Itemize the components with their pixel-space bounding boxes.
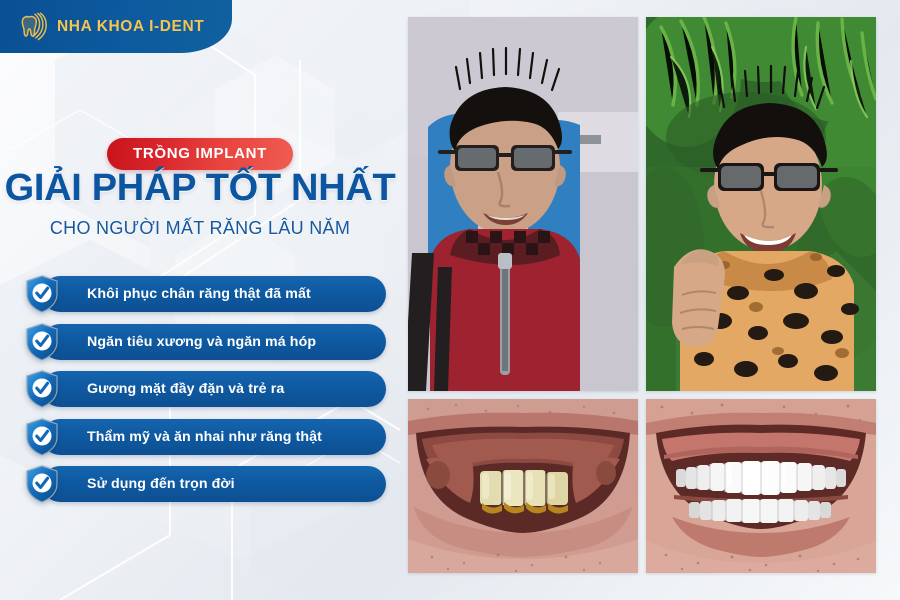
- teeth-closeup-after-photo: [646, 399, 876, 573]
- patient-portrait-before-photo: [408, 17, 638, 391]
- benefit-pill: Ngăn tiêu xương và ngăn má hóp: [42, 324, 386, 360]
- shield-check-icon: [20, 415, 64, 459]
- content-column: TRỒNG IMPLANT GIẢI PHÁP TỐT NHẤT CHO NGƯ…: [0, 0, 400, 600]
- tooth-arc-logo-icon: [14, 10, 48, 44]
- brand-name: NHA KHOA I-DENT: [57, 18, 204, 36]
- list-item: Sử dụng đến trọn đời: [20, 462, 390, 506]
- shield-check-icon: [20, 462, 64, 506]
- benefit-pill: Khôi phục chân răng thật đã mất: [42, 276, 386, 312]
- benefits-list: Khôi phục chân răng thật đã mất Ngăn tiê…: [20, 272, 390, 510]
- benefit-label: Gương mặt đầy đặn và trẻ ra: [87, 381, 284, 397]
- banner-canvas: NHA KHOA I-DENT TRỒNG IMPLANT GIẢI PHÁP …: [0, 0, 900, 600]
- before-after-gallery: [408, 17, 884, 583]
- benefit-pill: Gương mặt đầy đặn và trẻ ra: [42, 371, 386, 407]
- benefit-label: Ngăn tiêu xương và ngăn má hóp: [87, 334, 316, 350]
- badge-container: TRỒNG IMPLANT: [0, 138, 400, 170]
- benefit-label: Khôi phục chân răng thật đã mất: [87, 286, 311, 302]
- page-title: GIẢI PHÁP TỐT NHẤT: [0, 168, 400, 208]
- teeth-closeup-before-photo: [408, 399, 638, 573]
- shield-check-icon: [20, 272, 64, 316]
- benefit-pill: Sử dụng đến trọn đời: [42, 466, 386, 502]
- list-item: Ngăn tiêu xương và ngăn má hóp: [20, 320, 390, 364]
- patient-portrait-after-photo: [646, 17, 876, 391]
- benefit-label: Sử dụng đến trọn đời: [87, 476, 235, 492]
- list-item: Khôi phục chân răng thật đã mất: [20, 272, 390, 316]
- page-subtitle: CHO NGƯỜI MẤT RĂNG LÂU NĂM: [0, 218, 400, 239]
- benefit-pill: Thẩm mỹ và ăn nhai như răng thật: [42, 419, 386, 455]
- brand-header: NHA KHOA I-DENT: [0, 0, 232, 53]
- list-item: Thẩm mỹ và ăn nhai như răng thật: [20, 415, 390, 459]
- benefit-label: Thẩm mỹ và ăn nhai như răng thật: [87, 429, 322, 445]
- shield-check-icon: [20, 367, 64, 411]
- treatment-badge: TRỒNG IMPLANT: [107, 138, 293, 170]
- shield-check-icon: [20, 320, 64, 364]
- list-item: Gương mặt đầy đặn và trẻ ra: [20, 367, 390, 411]
